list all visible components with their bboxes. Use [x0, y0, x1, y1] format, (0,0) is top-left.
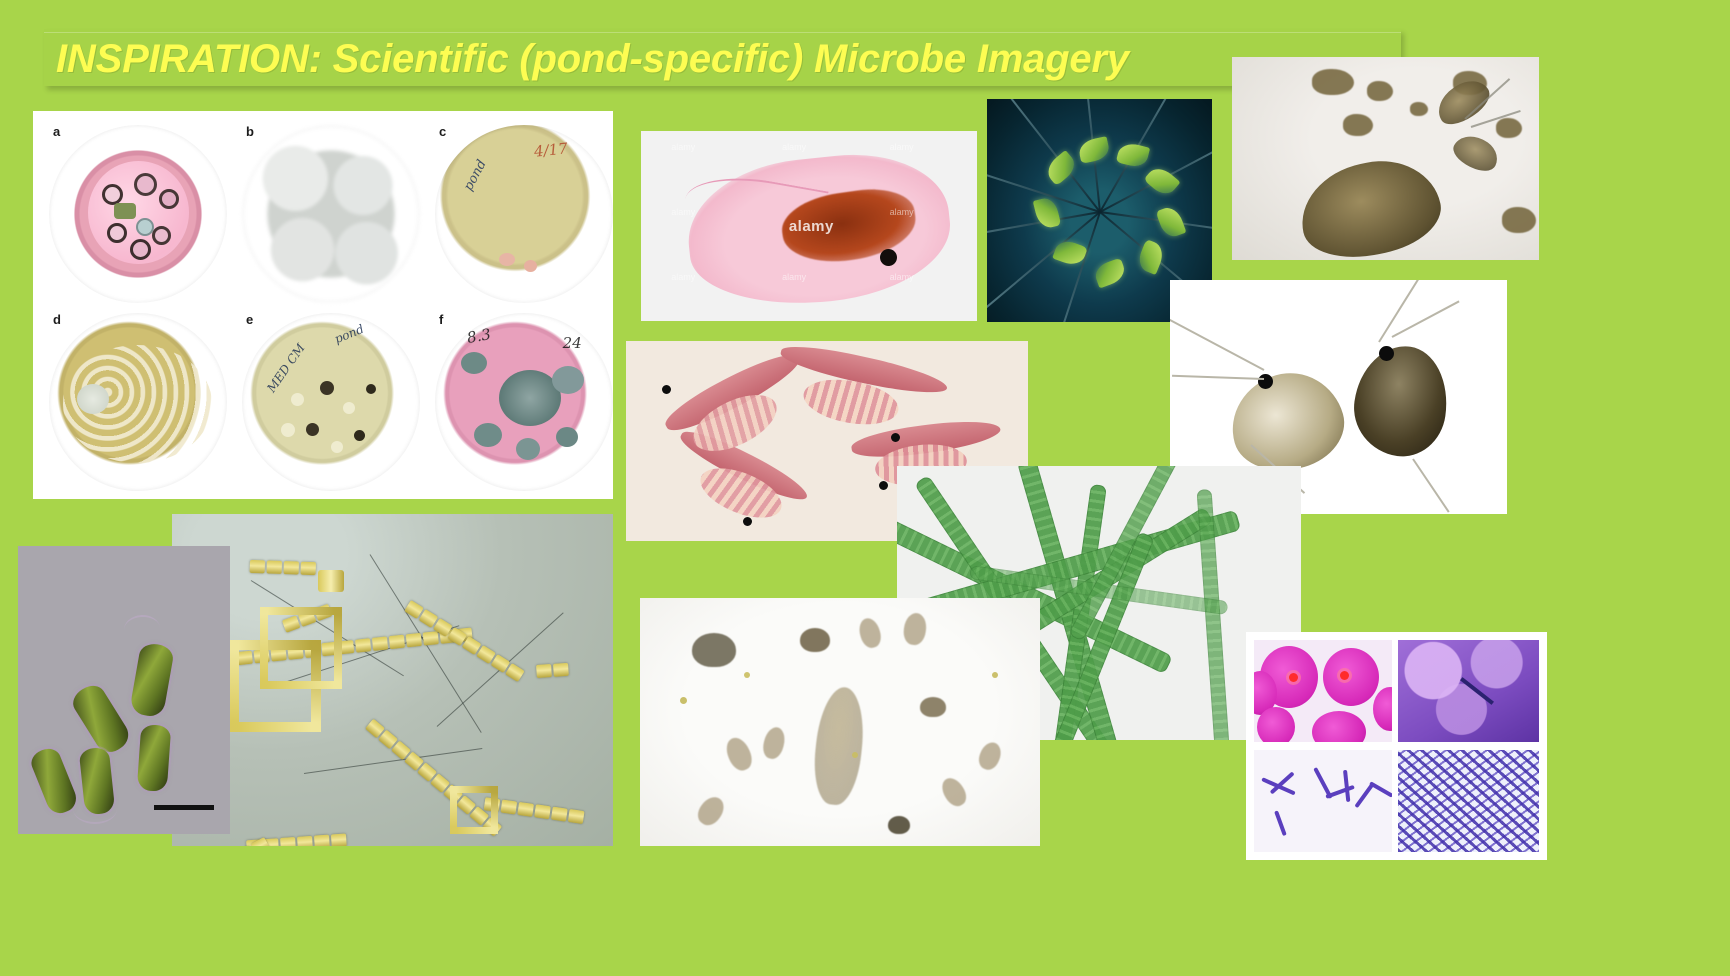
dish-e-handwriting-med: MED CM	[264, 341, 308, 395]
green-algae-cells-micrograph	[18, 546, 230, 834]
diatom-chain	[248, 560, 316, 575]
rotifer	[902, 611, 928, 646]
slide-canvas: INSPIRATION: Scientific (pond-specific) …	[0, 0, 1730, 976]
antenna	[1170, 317, 1265, 370]
colony	[102, 184, 123, 205]
bacterial-filament	[1369, 781, 1392, 797]
dish-e-handwriting-pond: pond	[333, 322, 366, 346]
detritus	[1312, 69, 1354, 95]
daphnia-body-right	[1348, 340, 1454, 462]
petri-dish-a: a	[41, 117, 234, 311]
detritus-clump	[800, 628, 830, 652]
stained-cell	[1312, 711, 1366, 742]
rotifer	[760, 725, 787, 761]
colony	[343, 402, 355, 414]
dish-image-d	[49, 313, 227, 491]
shrimp-eye	[662, 385, 671, 394]
petri-dish-b: b	[234, 117, 427, 311]
diatom-cell	[1143, 163, 1180, 199]
colony	[281, 423, 295, 437]
daphnia-eye-right	[1379, 346, 1394, 361]
watermark-tile: alamy	[890, 272, 914, 282]
alamy-watermark: alamy	[789, 218, 834, 235]
diatom-spine	[1099, 211, 1212, 237]
algal-spore	[852, 752, 858, 758]
diatom-ring-colony	[450, 786, 498, 834]
dish-image-a	[49, 125, 227, 303]
colony	[331, 441, 343, 453]
daphnia-eye-left	[1258, 374, 1273, 389]
rotifer	[693, 793, 728, 830]
histology-quadrant-bottom-left	[1254, 750, 1392, 852]
detritus-clump	[888, 816, 910, 834]
dish-c-handwriting-pond: pond	[461, 157, 490, 193]
colony	[291, 393, 304, 406]
mould-colony	[556, 427, 578, 447]
dish-image-f: 8.3 24	[435, 313, 613, 491]
colony	[320, 381, 334, 395]
dish-image-b	[242, 125, 420, 303]
petri-dish-f: f 8.3 24	[427, 305, 613, 499]
large-diatom	[318, 570, 344, 592]
watermark-tile: alamy	[782, 142, 806, 152]
mould-colony	[461, 352, 487, 374]
diatom-ring-colony	[260, 607, 342, 689]
histology-quadrant-top-left	[1254, 640, 1392, 742]
stained-cell	[1323, 648, 1379, 706]
rotifer	[856, 616, 883, 650]
mould-colony	[474, 423, 502, 447]
nucleolus	[1289, 673, 1298, 682]
histology-quadrant-top-right	[1398, 640, 1539, 742]
rotifer	[975, 739, 1004, 772]
colony	[107, 223, 127, 243]
copepod-nauplius	[810, 685, 868, 807]
colony	[499, 253, 515, 266]
mould-colony	[552, 366, 584, 394]
detritus	[1410, 102, 1428, 116]
bacterial-smear	[1398, 750, 1539, 852]
algal-cell	[68, 681, 134, 758]
antenna	[1172, 375, 1264, 380]
detritus-clump	[692, 633, 736, 667]
diatom-cell	[1115, 140, 1149, 169]
colony-green	[114, 203, 136, 219]
appendage	[1412, 458, 1449, 512]
watermark-tile: alamy	[671, 207, 695, 217]
petri-label-e: e	[246, 312, 253, 327]
diatom-cell	[1155, 204, 1186, 240]
petri-dish-e: e MED CM pond	[234, 305, 427, 499]
pond-water-sample-micrograph	[640, 598, 1040, 846]
tissue-section	[1398, 640, 1539, 742]
stained-cell	[1257, 707, 1295, 742]
scale-bar	[154, 805, 214, 810]
detritus	[1367, 81, 1393, 101]
phase-contrast-plankton-field	[172, 514, 613, 846]
watermark-tile: alamy	[890, 207, 914, 217]
nucleolus	[1340, 671, 1349, 680]
watermark-tile: alamy	[671, 272, 695, 282]
diatom-cell	[1033, 195, 1062, 229]
algal-spore	[744, 672, 750, 678]
rotifer	[938, 774, 971, 810]
daphnia-eye	[880, 249, 897, 266]
diatom-chain	[534, 663, 569, 678]
petri-label-b: b	[246, 124, 254, 139]
bacterial-filament	[1354, 783, 1374, 808]
stained-daphnia-micrograph: alamy alamy alamy alamy alamy alamy alam…	[641, 131, 977, 321]
colony	[130, 239, 151, 260]
mould-colony	[516, 438, 540, 460]
dish-c-handwriting-date: 4/17	[533, 139, 568, 160]
algal-spore	[680, 697, 687, 704]
watermark-tile: alamy	[782, 272, 806, 282]
detritus-clump	[920, 697, 946, 717]
detritus	[1502, 207, 1536, 233]
flagellum	[73, 794, 117, 824]
dish-image-e: MED CM pond	[242, 313, 420, 491]
shrimp-eye	[743, 517, 752, 526]
bacterial-filament	[1274, 810, 1287, 836]
colony	[366, 384, 376, 394]
diatom-spine	[1046, 211, 1100, 322]
petri-label-f: f	[439, 312, 443, 327]
petri-label-a: a	[53, 124, 60, 139]
detritus	[1496, 118, 1522, 138]
algal-spore	[992, 672, 998, 678]
colony-blue	[136, 218, 154, 236]
stained-slide-quad-panel	[1246, 632, 1547, 860]
petri-label-d: d	[53, 312, 61, 327]
watermark-tile: alamy	[890, 142, 914, 152]
page-title: INSPIRATION: Scientific (pond-specific) …	[56, 30, 1416, 88]
colony	[354, 430, 365, 441]
diatom-cell	[1077, 136, 1111, 164]
petri-dish-c: c pond 4/17	[427, 117, 613, 311]
petri-dish-d: d	[41, 305, 234, 499]
algal-cell	[137, 724, 172, 792]
colony	[524, 260, 537, 272]
detritus	[1343, 114, 1373, 136]
colony	[306, 423, 319, 436]
petri-label-c: c	[439, 124, 446, 139]
copepod-with-detritus-micrograph	[1232, 57, 1539, 260]
watermark-tile: alamy	[671, 142, 695, 152]
algal-cell	[129, 642, 175, 719]
dish-f-handwriting-1: 8.3	[465, 325, 492, 347]
shrimp-eye	[879, 481, 888, 490]
petri-dish-figure-panel: a b c pond 4/17	[33, 111, 613, 499]
stained-cell	[1373, 687, 1392, 731]
antenna	[1378, 280, 1425, 342]
diatom-chain	[204, 837, 270, 846]
dish-image-c: pond 4/17	[435, 125, 613, 303]
rotifer	[722, 734, 756, 774]
diatom-cell	[1092, 257, 1128, 288]
histology-quadrant-bottom-right	[1398, 750, 1539, 852]
flagellum	[123, 614, 161, 644]
dish-f-handwriting-2: 24	[563, 334, 582, 352]
